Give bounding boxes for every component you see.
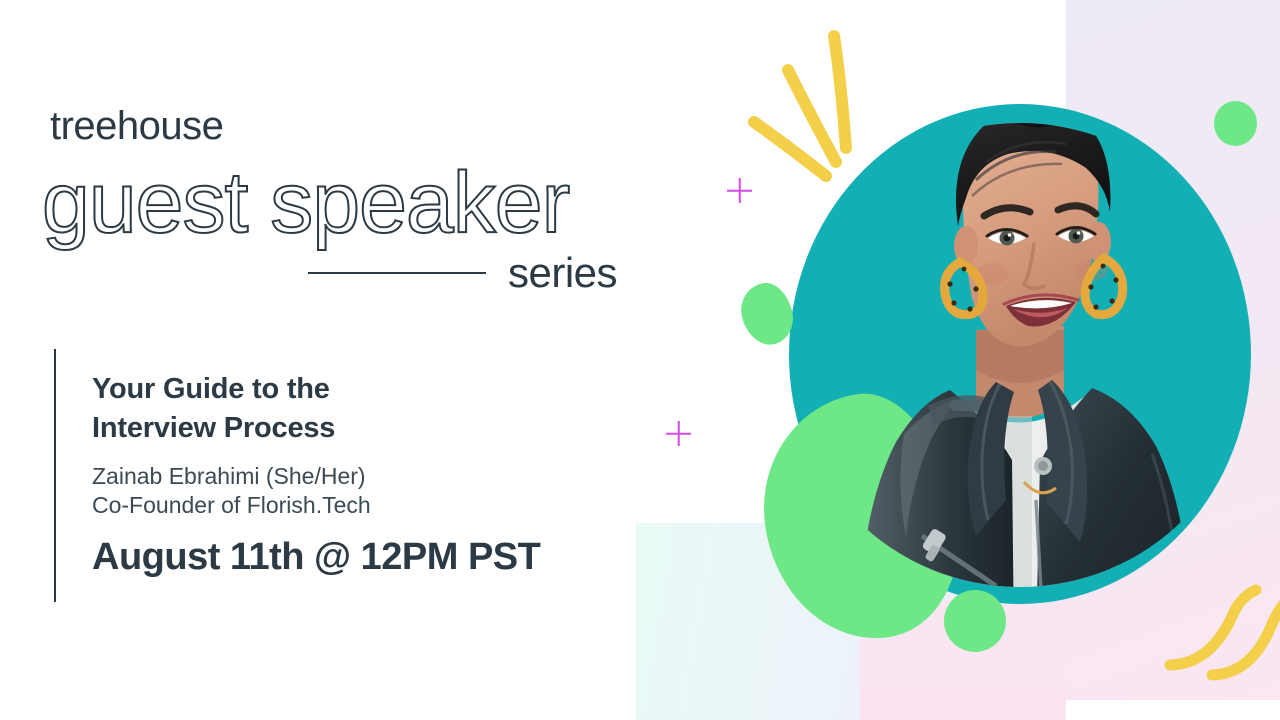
- promo-graphic: treehouse guest speaker series Your Guid…: [0, 0, 1280, 720]
- plus-mark-lower: [666, 421, 691, 446]
- series-word: series: [508, 252, 617, 294]
- event-datetime: August 11th @ 12PM PST: [92, 535, 540, 581]
- headline-outline: guest speaker: [42, 160, 569, 246]
- series-row: series: [308, 252, 617, 294]
- yellow-curved-strokes: [1160, 590, 1280, 700]
- speaker-name: Zainab Ebrahimi (She/Her): [92, 460, 366, 493]
- plus-mark-upper: [727, 178, 752, 203]
- yellow-ray-strokes: [740, 30, 900, 190]
- text-content-column: treehouse guest speaker series Your Guid…: [0, 0, 660, 720]
- green-dot-lower: [944, 590, 1006, 652]
- vertical-divider: [54, 349, 56, 602]
- session-title-line-1: Your Guide to the: [92, 370, 562, 409]
- treehouse-wordmark: treehouse: [50, 106, 223, 146]
- speaker-role: Co-Founder of Florish.Tech: [92, 489, 371, 522]
- series-rule: [308, 272, 486, 274]
- session-title: Your Guide to the Interview Process: [92, 370, 562, 448]
- session-title-line-2: Interview Process: [92, 409, 562, 448]
